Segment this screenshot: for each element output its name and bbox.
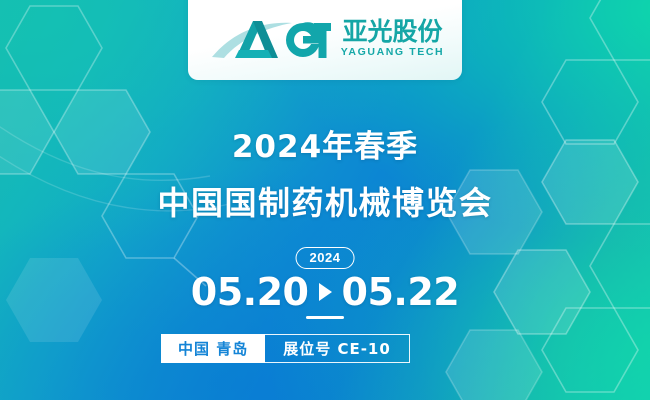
logo-company-cn: 亚光股份 xyxy=(342,19,442,44)
date-start: 05.20 xyxy=(191,270,309,314)
agt-logo-icon xyxy=(206,17,332,61)
date-end: 05.22 xyxy=(342,270,460,314)
location-badge: 中国 青岛 xyxy=(161,334,265,363)
logo-lockup: 亚光股份 YAGUANG TECH xyxy=(206,17,444,61)
logo-panel: 亚光股份 YAGUANG TECH xyxy=(188,0,462,80)
divider-rule xyxy=(306,316,344,319)
event-title-line-1: 2024年春季 xyxy=(0,121,650,166)
logo-text-block: 亚光股份 YAGUANG TECH xyxy=(341,19,444,58)
event-banner: 亚光股份 YAGUANG TECH 2024年春季 中国国制药机械博览会 202… xyxy=(0,0,650,400)
year-badge: 2024 xyxy=(296,247,355,269)
logo-company-en: YAGUANG TECH xyxy=(341,47,444,58)
triangle-right-icon xyxy=(319,283,332,301)
event-date-range: 05.20 05.22 xyxy=(0,270,650,314)
event-title-line-2: 中国国制药机械博览会 xyxy=(0,178,650,224)
venue-info-bar: 中国 青岛 展位号 CE-10 xyxy=(161,334,410,363)
booth-number-badge: 展位号 CE-10 xyxy=(265,334,410,363)
